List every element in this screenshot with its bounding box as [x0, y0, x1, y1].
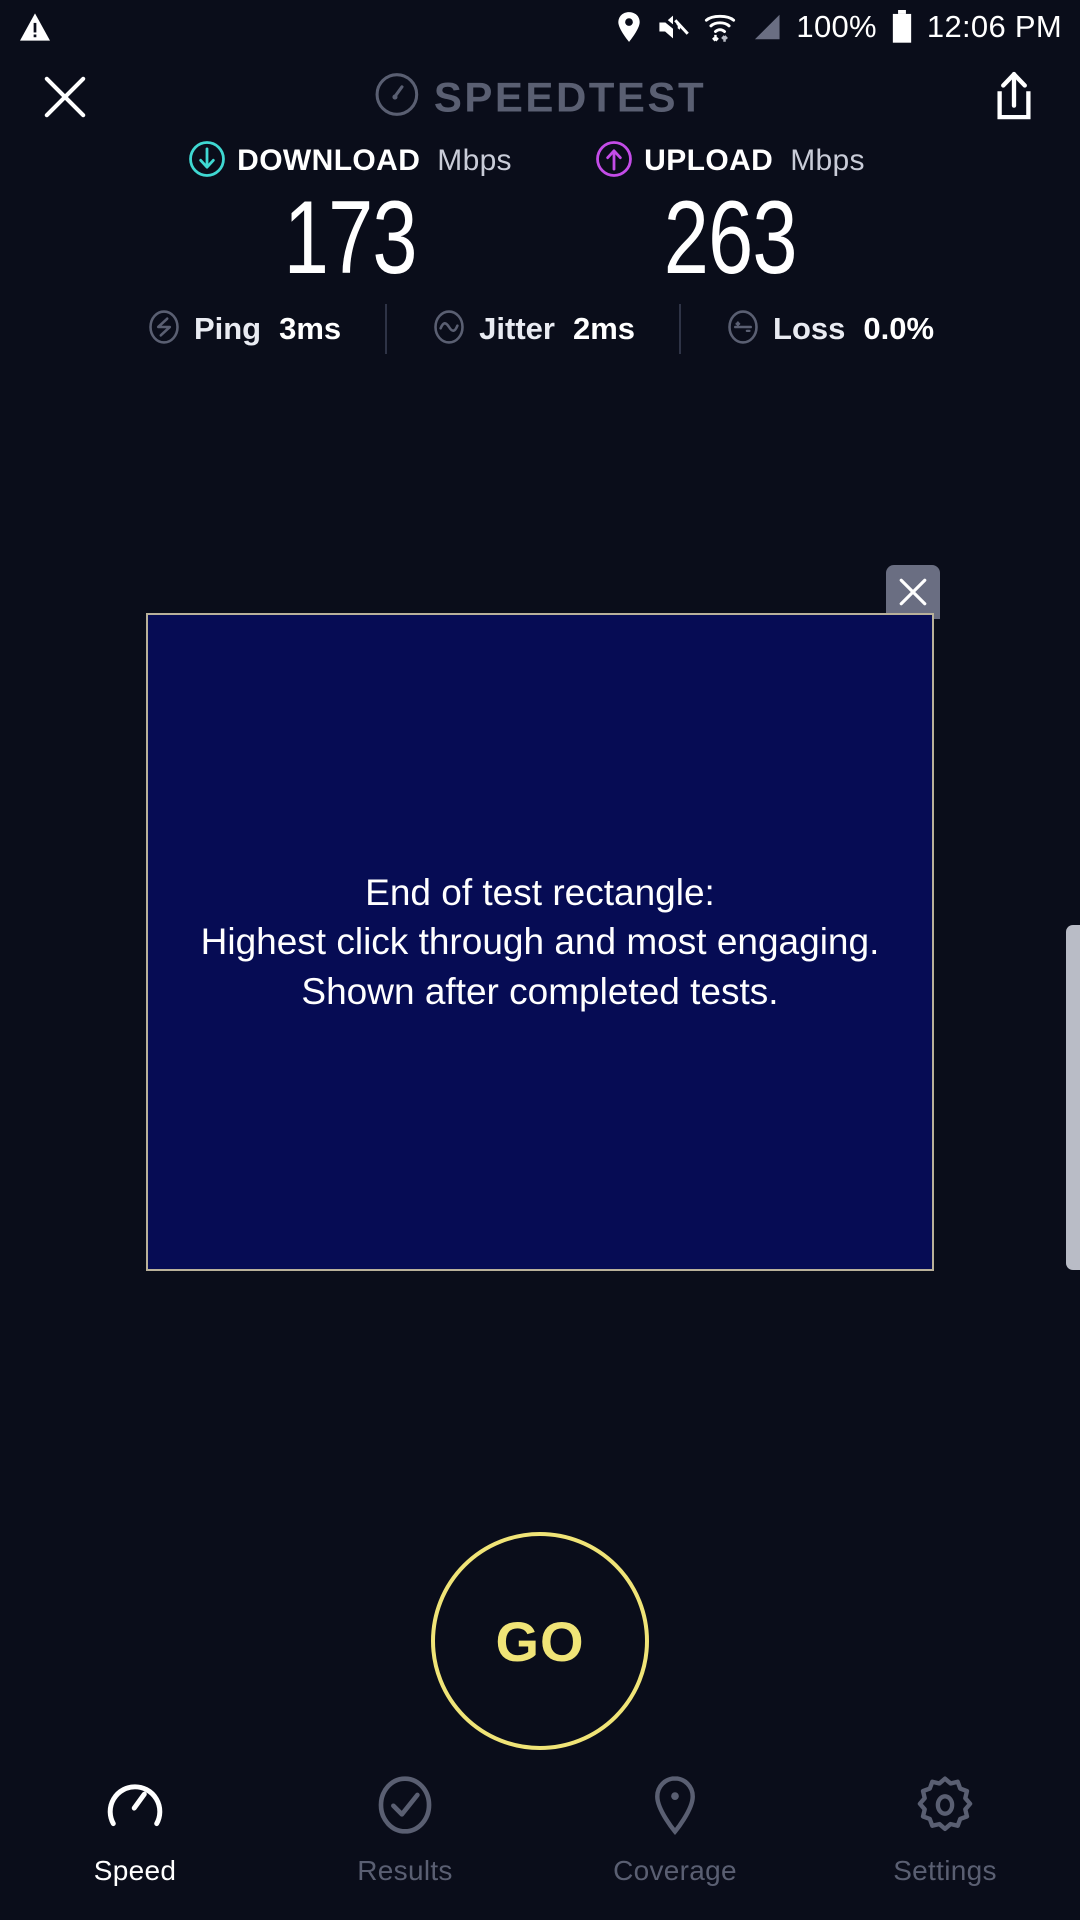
ad-line-2: Highest click through and most engaging. — [201, 917, 880, 966]
close-button[interactable] — [32, 64, 98, 130]
gear-icon — [914, 1774, 976, 1841]
nav-item-coverage[interactable]: Coverage — [540, 1774, 810, 1887]
jitter-metric: Jitter 2ms — [431, 309, 635, 350]
location-pin-icon — [616, 11, 642, 43]
cellular-signal-icon — [750, 12, 782, 42]
download-metric: DOWNLOAD Mbps 173 — [160, 140, 540, 293]
loss-metric: Loss 0.0% — [725, 309, 934, 350]
battery-full-icon — [891, 10, 913, 44]
upload-header: UPLOAD Mbps — [595, 140, 865, 182]
loss-value: 0.0% — [863, 311, 934, 347]
connection-metrics-row: Ping 3ms Jitter 2ms — [0, 300, 1080, 358]
speedometer-icon — [104, 1774, 166, 1841]
ping-icon — [146, 309, 182, 350]
download-arrow-icon — [188, 140, 226, 183]
wifi-icon — [704, 10, 736, 44]
location-pin-icon — [644, 1774, 706, 1841]
status-bar-left — [18, 12, 52, 42]
warning-triangle-icon — [18, 12, 52, 42]
brand-logo: SPEEDTEST — [374, 72, 706, 123]
bottom-navigation: Speed Results Coverage — [0, 1760, 1080, 1920]
ping-label: Ping — [194, 311, 261, 347]
nav-label-speed: Speed — [94, 1855, 176, 1887]
battery-percent-label: 100% — [796, 9, 877, 45]
ad-close-button[interactable] — [886, 565, 940, 619]
upload-unit: Mbps — [790, 144, 865, 178]
close-icon — [39, 71, 91, 123]
download-unit: Mbps — [437, 144, 512, 178]
speed-metrics-row: DOWNLOAD Mbps 173 UPLOAD Mbps — [0, 140, 1080, 293]
jitter-label: Jitter — [479, 311, 555, 347]
upload-arrow-icon — [595, 140, 633, 183]
metric-divider — [679, 304, 681, 354]
nav-item-speed[interactable]: Speed — [0, 1774, 270, 1887]
jitter-value: 2ms — [573, 311, 635, 347]
clock-label: 12:06 PM — [927, 9, 1062, 45]
download-value: 173 — [283, 184, 416, 293]
status-bar: 100% 12:06 PM — [0, 0, 1080, 54]
ad-text: End of test rectangle: Highest click thr… — [201, 868, 880, 1016]
nav-item-results[interactable]: Results — [270, 1774, 540, 1887]
metric-divider — [385, 304, 387, 354]
nav-label-settings: Settings — [893, 1855, 997, 1887]
ad-close-icon — [896, 575, 930, 609]
upload-label: UPLOAD — [644, 144, 773, 178]
download-label: DOWNLOAD — [237, 144, 420, 178]
jitter-icon — [431, 309, 467, 350]
advertisement-banner[interactable]: End of test rectangle: Highest click thr… — [146, 613, 934, 1271]
download-header: DOWNLOAD Mbps — [188, 140, 512, 182]
brand-title: SPEEDTEST — [434, 73, 706, 121]
ping-value: 3ms — [279, 311, 341, 347]
check-circle-icon — [374, 1774, 436, 1841]
scrollbar-thumb[interactable] — [1066, 925, 1080, 1270]
volume-mute-icon — [656, 12, 690, 42]
ping-metric: Ping 3ms — [146, 309, 341, 350]
share-button[interactable] — [984, 67, 1044, 127]
nav-label-results: Results — [357, 1855, 452, 1887]
ad-line-3: Shown after completed tests. — [201, 967, 880, 1016]
nav-label-coverage: Coverage — [613, 1855, 737, 1887]
share-icon — [991, 71, 1037, 123]
go-button[interactable]: GO — [431, 1532, 649, 1750]
status-bar-right: 100% 12:06 PM — [616, 9, 1062, 45]
loss-icon — [725, 309, 761, 350]
speedometer-icon — [374, 72, 420, 123]
ad-line-1: End of test rectangle: — [201, 868, 880, 917]
loss-label: Loss — [773, 311, 845, 347]
results-section: DOWNLOAD Mbps 173 UPLOAD Mbps — [0, 140, 1080, 293]
speedtest-app-screen: 100% 12:06 PM SP — [0, 0, 1080, 1920]
go-button-label: GO — [495, 1609, 584, 1674]
app-header: SPEEDTEST — [0, 54, 1080, 140]
upload-metric: UPLOAD Mbps 263 — [540, 140, 920, 293]
upload-value: 263 — [663, 184, 796, 293]
nav-item-settings[interactable]: Settings — [810, 1774, 1080, 1887]
